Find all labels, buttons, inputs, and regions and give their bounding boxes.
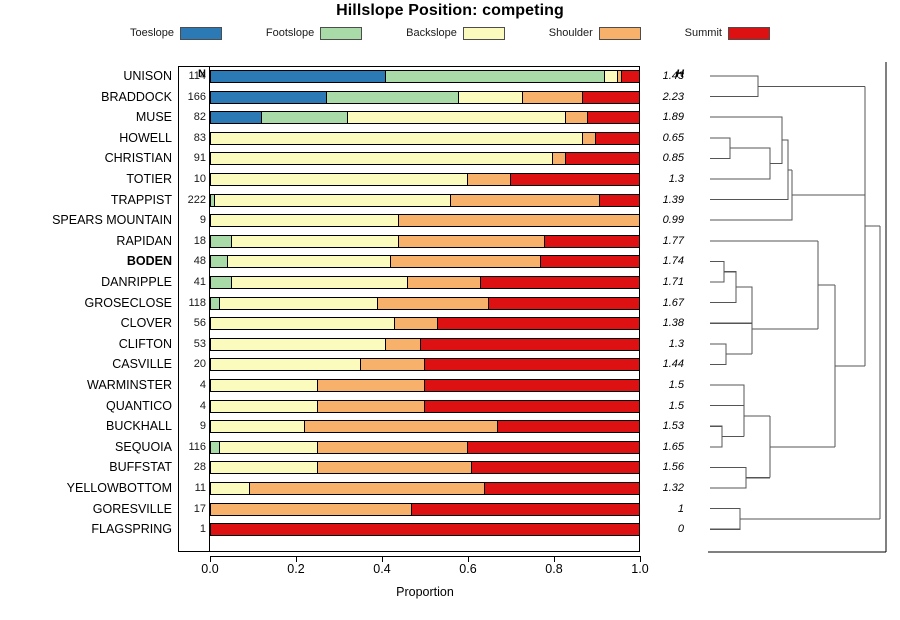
bar-segment-summit <box>211 524 639 535</box>
row-n-value: 11 <box>180 478 206 498</box>
bar-segment-footslope <box>211 442 220 453</box>
stacked-bar <box>210 358 640 371</box>
bar-segment-summit <box>485 483 639 494</box>
row-label-buckhall: BUCKHALL <box>0 416 172 436</box>
row-n-value: 28 <box>180 457 206 477</box>
bar-segment-shoulder <box>399 215 639 226</box>
bar-segment-summit <box>541 256 639 267</box>
bar-segment-summit <box>583 92 639 103</box>
row-label-flagspring: FLAGSPRING <box>0 519 172 539</box>
bar-segment-summit <box>472 462 639 473</box>
row-label-braddock: BRADDOCK <box>0 87 172 107</box>
x-tick-label: 0.6 <box>448 562 488 576</box>
row-h-value: 1.44 <box>644 354 684 374</box>
row-label-boden: BODEN <box>0 251 172 271</box>
stacked-bar <box>210 523 640 536</box>
legend-entry-backslope: Backslope <box>406 27 505 40</box>
bar-segment-backslope <box>459 92 523 103</box>
row-label-howell: HOWELL <box>0 128 172 148</box>
stacked-bar <box>210 317 640 330</box>
row-n-value: 53 <box>180 334 206 354</box>
legend-swatch <box>463 27 505 40</box>
bar-segment-summit <box>600 195 639 206</box>
legend: ToeslopeFootslopeBackslopeShoulderSummit <box>130 25 770 41</box>
bar-segment-summit <box>468 442 639 453</box>
row-label-christian: CHRISTIAN <box>0 148 172 168</box>
row-label-sequoia: SEQUOIA <box>0 437 172 457</box>
bar-segment-toeslope <box>211 71 386 82</box>
row-n-value: 48 <box>180 251 206 271</box>
row-h-value: 1.53 <box>644 416 684 436</box>
row-h-value: 1.65 <box>644 437 684 457</box>
legend-label: Shoulder <box>549 27 593 39</box>
dendrogram-svg <box>700 62 895 560</box>
bar-segment-backslope <box>211 133 583 144</box>
row-h-value: 1.71 <box>644 272 684 292</box>
stacked-bar <box>210 400 640 413</box>
stacked-bar <box>210 91 640 104</box>
row-n-value: 56 <box>180 313 206 333</box>
row-label-goresville: GORESVILLE <box>0 499 172 519</box>
row-h-value: 1.77 <box>644 231 684 251</box>
row-n-value: 91 <box>180 148 206 168</box>
row-h-value: 1.32 <box>644 478 684 498</box>
row-n-value: 1 <box>180 519 206 539</box>
bar-segment-shoulder <box>523 92 583 103</box>
bar-segment-backslope <box>232 236 399 247</box>
row-n-value: 4 <box>180 375 206 395</box>
x-tick-label: 0.0 <box>190 562 230 576</box>
chart-root: Hillslope Position: competing ToeslopeFo… <box>0 0 900 620</box>
bar-segment-backslope <box>220 442 318 453</box>
bar-segment-backslope <box>211 153 553 164</box>
row-h-value: 1.3 <box>644 169 684 189</box>
stacked-bar <box>210 214 640 227</box>
bar-segment-shoulder <box>318 442 468 453</box>
bar-segment-shoulder <box>395 318 438 329</box>
row-h-value: 0.85 <box>644 148 684 168</box>
bar-segment-backslope <box>220 298 378 309</box>
stacked-bar <box>210 152 640 165</box>
row-h-value: 1.3 <box>644 334 684 354</box>
bar-segment-shoulder <box>583 133 596 144</box>
bar-segment-footslope <box>211 277 232 288</box>
legend-entry-toeslope: Toeslope <box>130 27 222 40</box>
stacked-bar <box>210 379 640 392</box>
row-n-value: 41 <box>180 272 206 292</box>
row-label-clover: CLOVER <box>0 313 172 333</box>
stacked-bar <box>210 503 640 516</box>
bar-segment-backslope <box>232 277 407 288</box>
bar-segment-summit <box>588 112 639 123</box>
bar-segment-summit <box>545 236 639 247</box>
legend-entry-shoulder: Shoulder <box>549 27 641 40</box>
bar-segment-shoulder <box>378 298 489 309</box>
legend-label: Backslope <box>406 27 457 39</box>
row-label-quantico: QUANTICO <box>0 396 172 416</box>
page-title: Hillslope Position: competing <box>0 2 900 20</box>
row-n-value: 4 <box>180 396 206 416</box>
row-label-spears-mountain: SPEARS MOUNTAIN <box>0 210 172 230</box>
row-n-value: 10 <box>180 169 206 189</box>
bar-segment-shoulder <box>211 504 412 515</box>
row-label-casville: CASVILLE <box>0 354 172 374</box>
row-h-value: 1.89 <box>644 107 684 127</box>
row-n-value: 166 <box>180 87 206 107</box>
stacked-bar <box>210 111 640 124</box>
row-h-value: 1.39 <box>644 190 684 210</box>
bar-segment-footslope <box>211 298 220 309</box>
stacked-bar <box>210 461 640 474</box>
row-label-clifton: CLIFTON <box>0 334 172 354</box>
stacked-bar <box>210 173 640 186</box>
x-tick-label: 1.0 <box>620 562 660 576</box>
bar-segment-shoulder <box>566 112 587 123</box>
x-tick-label: 0.8 <box>534 562 574 576</box>
row-label-totier: TOTIER <box>0 169 172 189</box>
row-h-value: 1 <box>644 499 684 519</box>
bar-segment-summit <box>438 318 639 329</box>
row-n-value: 83 <box>180 128 206 148</box>
bar-segment-summit <box>425 401 639 412</box>
bar-segment-backslope <box>211 380 318 391</box>
bar-segment-summit <box>481 277 639 288</box>
bar-segment-summit <box>511 174 639 185</box>
stacked-bar <box>210 70 640 83</box>
stacked-bar <box>210 255 640 268</box>
row-n-value: 20 <box>180 354 206 374</box>
legend-label: Footslope <box>266 27 314 39</box>
legend-entry-footslope: Footslope <box>266 27 362 40</box>
bar-segment-shoulder <box>399 236 545 247</box>
row-label-warminster: WARMINSTER <box>0 375 172 395</box>
stacked-bar <box>210 276 640 289</box>
dendrogram <box>700 62 895 560</box>
bar-segment-backslope <box>211 483 250 494</box>
legend-swatch <box>320 27 362 40</box>
row-h-value: 1.67 <box>644 293 684 313</box>
bar-segment-backslope <box>211 318 395 329</box>
row-label-groseclose: GROSECLOSE <box>0 293 172 313</box>
row-label-buffstat: BUFFSTAT <box>0 457 172 477</box>
bar-segment-shoulder <box>318 401 425 412</box>
legend-swatch <box>180 27 222 40</box>
bar-segment-summit <box>566 153 639 164</box>
bar-segment-shoulder <box>305 421 498 432</box>
x-axis-line <box>210 556 640 557</box>
row-h-value: 1.74 <box>644 251 684 271</box>
x-tick-label: 0.2 <box>276 562 316 576</box>
bar-segment-shoulder <box>318 380 425 391</box>
bar-segment-backslope <box>211 174 468 185</box>
bar-segment-shoulder <box>361 359 425 370</box>
bar-segment-backslope <box>348 112 566 123</box>
bar-segment-backslope <box>211 462 318 473</box>
row-label-yellowbottom: YELLOWBOTTOM <box>0 478 172 498</box>
legend-swatch <box>599 27 641 40</box>
x-tick-label: 0.4 <box>362 562 402 576</box>
row-h-value: 0.65 <box>644 128 684 148</box>
row-label-unison: UNISON <box>0 66 172 86</box>
legend-entry-summit: Summit <box>685 27 770 40</box>
row-h-value: 1.5 <box>644 396 684 416</box>
stacked-bar <box>210 338 640 351</box>
stacked-bar <box>210 297 640 310</box>
bar-segment-backslope <box>211 215 399 226</box>
bar-segment-footslope <box>211 256 228 267</box>
stacked-bar <box>210 420 640 433</box>
row-h-value: 1.38 <box>644 313 684 333</box>
bar-segment-backslope <box>215 195 450 206</box>
bar-segment-summit <box>498 421 639 432</box>
row-n-value: 222 <box>180 190 206 210</box>
bar-segment-backslope <box>211 421 305 432</box>
bar-segment-footslope <box>211 236 232 247</box>
row-h-value: 2.23 <box>644 87 684 107</box>
row-h-value: 1.43 <box>644 66 684 86</box>
row-n-value: 9 <box>180 210 206 230</box>
row-n-value: 116 <box>180 437 206 457</box>
row-n-value: 82 <box>180 107 206 127</box>
bar-segment-footslope <box>386 71 604 82</box>
stacked-bar <box>210 194 640 207</box>
bar-segment-summit <box>622 71 639 82</box>
x-axis-title: Proportion <box>210 585 640 599</box>
row-label-danripple: DANRIPPLE <box>0 272 172 292</box>
bar-segment-shoulder <box>386 339 420 350</box>
bar-segment-backslope <box>605 71 618 82</box>
bar-segment-shoulder <box>553 153 566 164</box>
row-h-value: 0.99 <box>644 210 684 230</box>
stacked-bar <box>210 441 640 454</box>
row-h-value: 0 <box>644 519 684 539</box>
row-n-value: 114 <box>180 66 206 86</box>
bar-segment-backslope <box>211 401 318 412</box>
stacked-bar <box>210 482 640 495</box>
bar-segment-backslope <box>228 256 391 267</box>
stacked-bar <box>210 235 640 248</box>
bar-segment-toeslope <box>211 112 262 123</box>
stacked-bar <box>210 132 640 145</box>
row-n-value: 17 <box>180 499 206 519</box>
bar-segment-shoulder <box>391 256 541 267</box>
row-n-value: 18 <box>180 231 206 251</box>
bar-segment-shoulder <box>318 462 472 473</box>
bar-segment-shoulder <box>451 195 601 206</box>
bar-segment-summit <box>489 298 639 309</box>
bar-segment-footslope <box>327 92 460 103</box>
bar-segment-toeslope <box>211 92 327 103</box>
row-n-value: 118 <box>180 293 206 313</box>
row-label-muse: MUSE <box>0 107 172 127</box>
bar-segment-backslope <box>211 359 361 370</box>
legend-label: Toeslope <box>130 27 174 39</box>
bar-segment-summit <box>412 504 639 515</box>
legend-swatch <box>728 27 770 40</box>
bar-segment-summit <box>596 133 639 144</box>
row-label-trappist: TRAPPIST <box>0 190 172 210</box>
row-h-value: 1.5 <box>644 375 684 395</box>
row-h-value: 1.56 <box>644 457 684 477</box>
bar-segment-summit <box>425 380 639 391</box>
row-label-rapidan: RAPIDAN <box>0 231 172 251</box>
bar-segment-shoulder <box>250 483 485 494</box>
bar-segment-summit <box>421 339 639 350</box>
bar-segment-shoulder <box>468 174 511 185</box>
bar-segment-backslope <box>211 339 386 350</box>
bar-segment-shoulder <box>408 277 481 288</box>
bar-segment-summit <box>425 359 639 370</box>
row-n-value: 9 <box>180 416 206 436</box>
bar-segment-footslope <box>262 112 348 123</box>
legend-label: Summit <box>685 27 722 39</box>
